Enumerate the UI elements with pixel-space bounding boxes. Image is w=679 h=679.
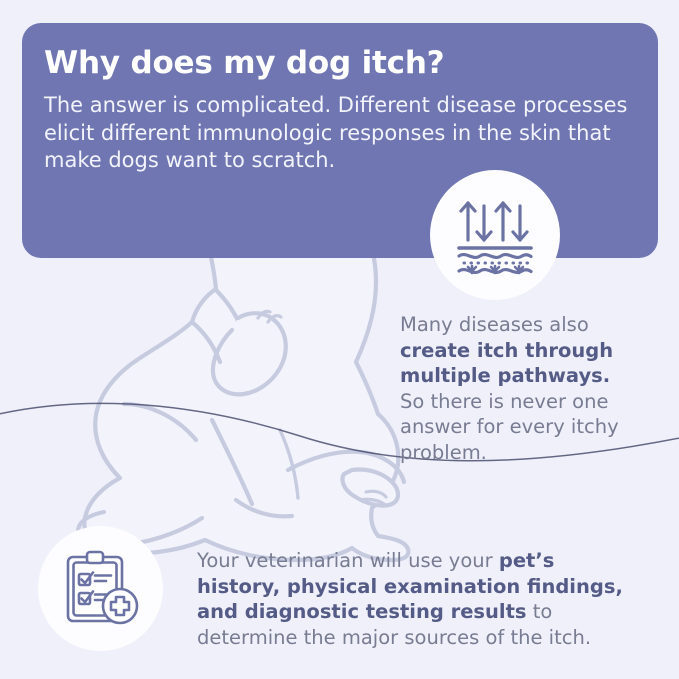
page-title: Why does my dog itch? xyxy=(44,43,636,83)
callout-multiple-pathways: Many diseases also create itch through m… xyxy=(400,312,632,465)
callout-veterinarian-diagnosis: Your veterinarian will use your pet’s hi… xyxy=(197,548,629,650)
callout-segment: Your veterinarian will use your xyxy=(197,549,499,572)
infographic-canvas: Why does my dog itch? The answer is comp… xyxy=(0,0,679,679)
clipboard-badge xyxy=(38,526,163,651)
skin-barrier-badge xyxy=(430,170,560,300)
hero-description: The answer is complicated. Different dis… xyxy=(44,92,636,175)
callout-segment-bold: create itch through multiple pathways. xyxy=(400,339,613,388)
hero-panel: Why does my dog itch? The answer is comp… xyxy=(22,23,658,258)
callout-segment: Many diseases also xyxy=(400,313,589,336)
clipboard-checklist-medical-icon xyxy=(60,548,142,630)
skin-barrier-arrows-icon xyxy=(452,192,538,278)
callout-segment: So there is never one answer for every i… xyxy=(400,390,619,464)
